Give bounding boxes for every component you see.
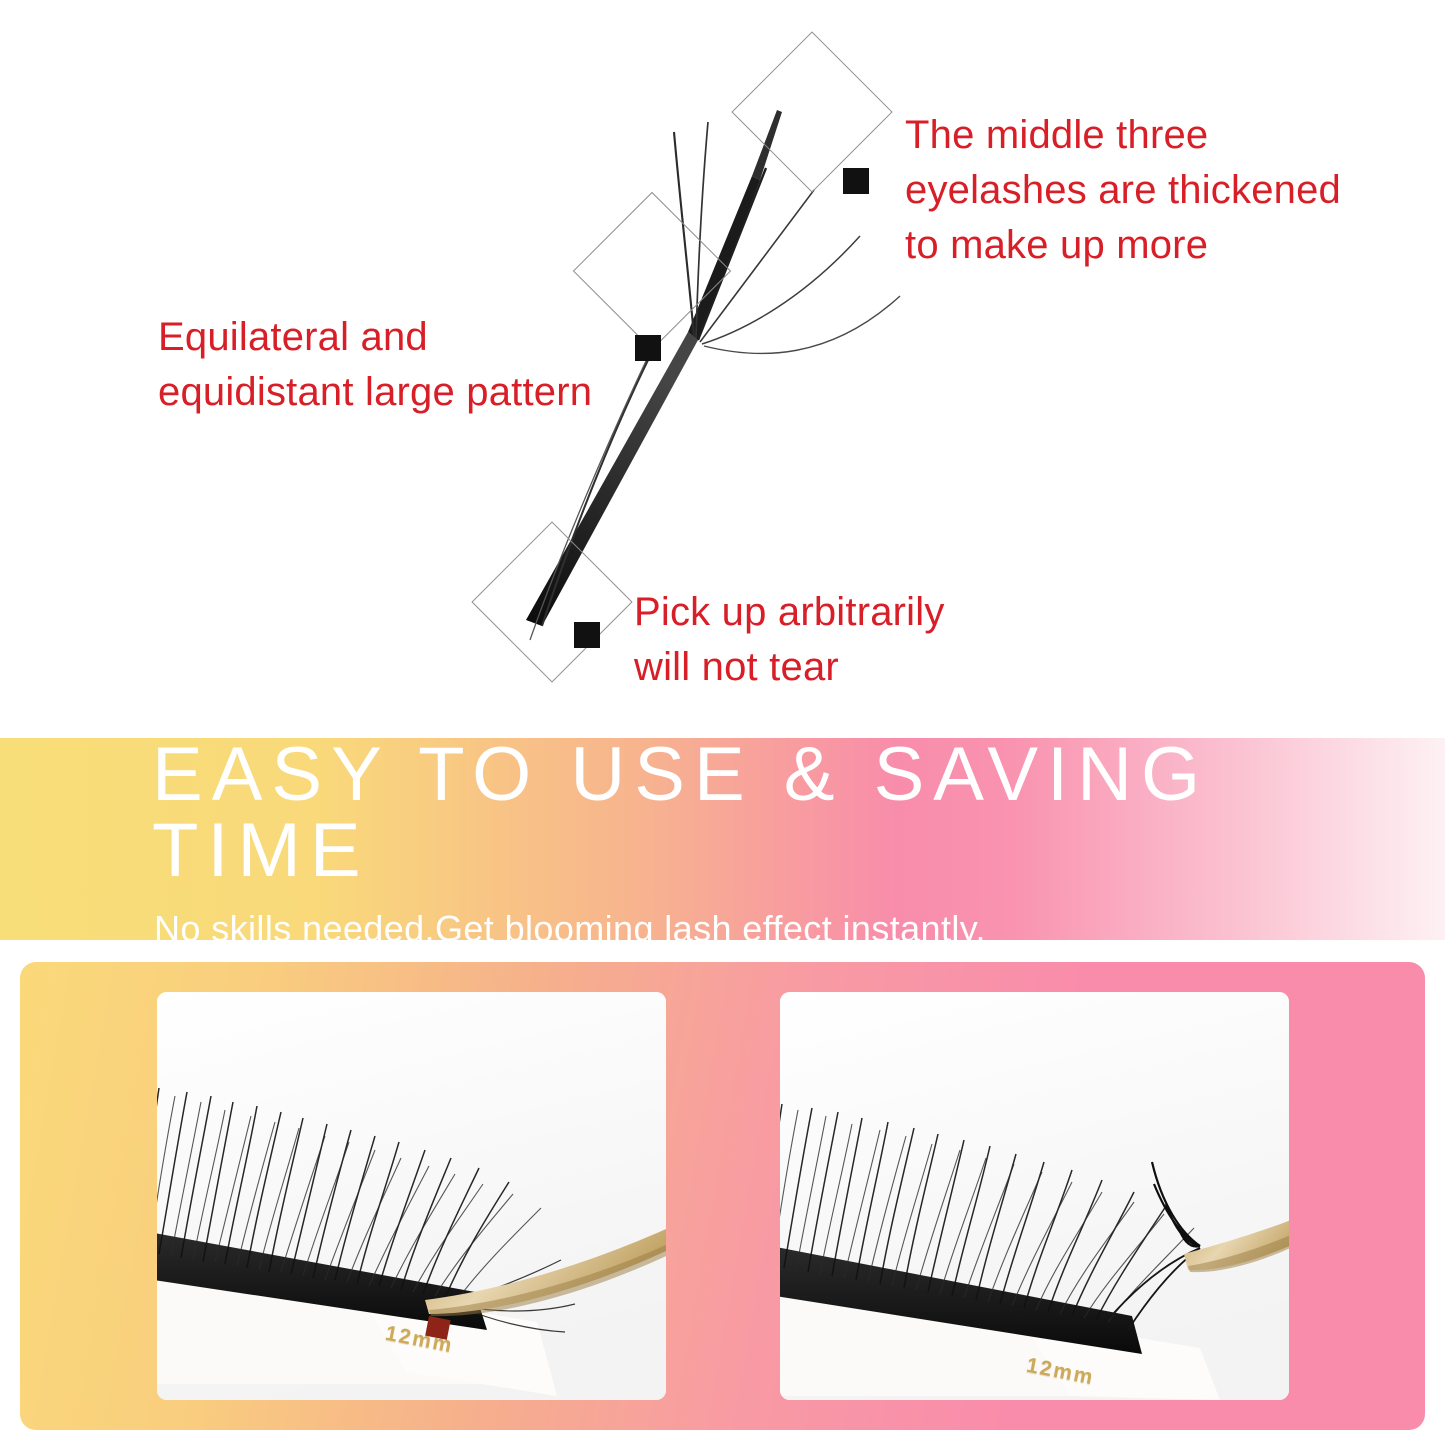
callout-marker-bottom — [574, 622, 600, 648]
top-feature-section: The middle three eyelashes are thickened… — [0, 0, 1445, 738]
product-infographic: The middle three eyelashes are thickened… — [0, 0, 1445, 1445]
annotation-middle-three: The middle three eyelashes are thickened… — [905, 108, 1365, 274]
callout-marker-middle — [635, 335, 661, 361]
photo-card-right: 12mm — [780, 992, 1289, 1400]
feature-banner: EASY TO USE & SAVING TIME No skills need… — [0, 738, 1445, 940]
callout-marker-top — [843, 168, 869, 194]
photo-lash-tray-fan-pickup — [780, 992, 1289, 1400]
banner-headline: EASY TO USE & SAVING TIME — [0, 738, 1445, 889]
product-photos-panel: 12mm — [20, 962, 1425, 1430]
annotation-pick-up: Pick up arbitrarily will not tear — [634, 585, 1034, 695]
banner-subheadline: No skills needed.Get blooming lash effec… — [0, 911, 1445, 940]
lash-tray-photo-right — [780, 992, 1289, 1400]
photo-card-left: 12mm — [157, 992, 666, 1400]
annotation-equilateral: Equilateral and equidistant large patter… — [158, 310, 628, 420]
